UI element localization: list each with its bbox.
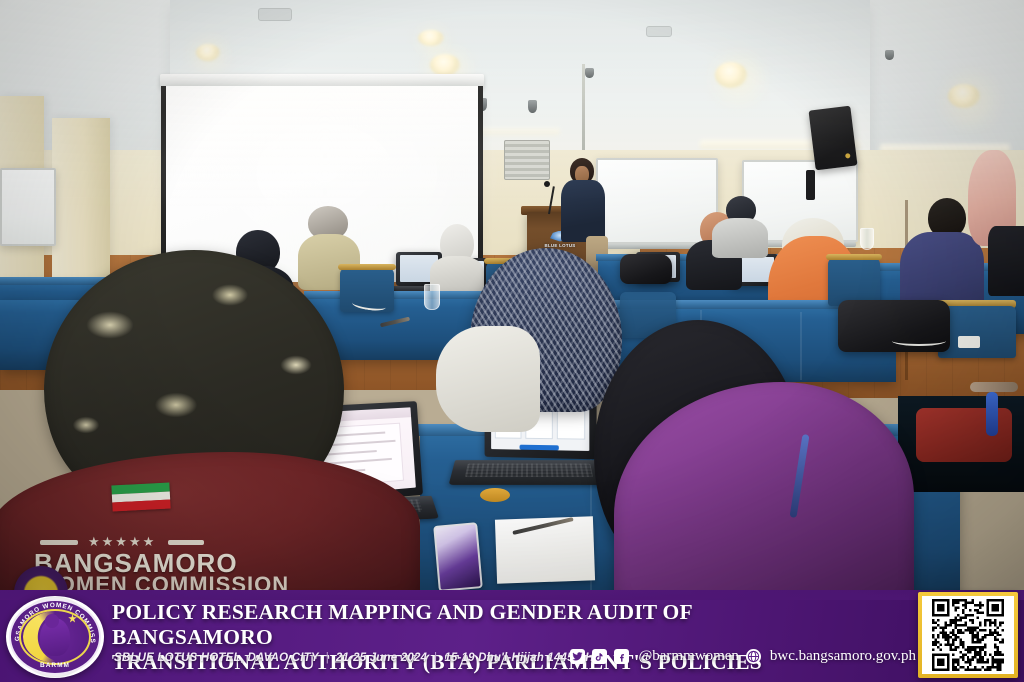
speaker-mount — [806, 170, 815, 200]
sprinkler-head — [585, 68, 594, 78]
globe-icon[interactable] — [746, 649, 761, 664]
wall-speaker — [809, 106, 858, 171]
website-url[interactable]: bwc.bangsamoro.gov.ph — [770, 648, 916, 665]
cable — [892, 336, 946, 346]
air-conditioner-vent — [504, 140, 550, 180]
laptop-charger — [958, 336, 980, 348]
microphone-head — [544, 181, 550, 187]
twitter-icon[interactable] — [570, 649, 585, 664]
banner-subtitle: SBLUE LOTUS HOTEL, DAVAO CITY | 21-25 Ju… — [114, 652, 594, 664]
bwc-seal-logo: BANGSAMORO WOMEN COMMISSION BARMM — [6, 596, 104, 678]
remote-control — [970, 382, 1018, 392]
tiktok-icon[interactable] — [592, 649, 607, 664]
downlight — [418, 30, 444, 46]
screenshot-root: BLUE LOTUS — [0, 0, 1024, 682]
laptop-sticker — [480, 488, 510, 502]
participant-torso — [712, 218, 768, 258]
philippine-flag-patch — [111, 483, 170, 512]
participant-torso — [988, 226, 1024, 296]
banner-venue: SBLUE LOTUS HOTEL, DAVAO CITY — [114, 652, 319, 664]
participant-foreground-white-garment — [436, 326, 540, 432]
banner-separator-1: | — [326, 652, 329, 664]
jacket-rule-right — [168, 540, 204, 545]
seal-barmm-label: BARMM — [6, 662, 104, 669]
bag-backrow — [620, 254, 672, 284]
social-handle[interactable]: @barmmwomen — [638, 648, 738, 665]
ceiling-vent — [258, 8, 292, 21]
laptop-foreground-center-base — [449, 460, 612, 485]
sprinkler-head — [528, 100, 537, 113]
event-photograph: BLUE LOTUS — [0, 0, 1024, 600]
facebook-icon[interactable] — [614, 649, 629, 664]
qr-code[interactable] — [918, 592, 1018, 678]
downlight — [196, 44, 220, 61]
banner-separator-2: | — [434, 652, 437, 664]
ceiling-vent — [646, 26, 672, 37]
banner-title-line1: POLICY RESEARCH MAPPING AND GENDER AUDIT… — [112, 600, 692, 649]
phone-screen — [435, 524, 480, 589]
smartphone — [433, 522, 483, 592]
table-skirt-fold — [800, 312, 802, 380]
qr-code-inner — [922, 596, 1014, 674]
chair-midrow-4 — [828, 258, 880, 306]
seal-mother-child-figure — [40, 618, 70, 656]
sprinkler-head — [885, 50, 894, 60]
chair-gold-trim — [338, 264, 396, 270]
whiteboard-left — [0, 168, 56, 246]
presenter-torso — [561, 180, 605, 242]
downlight — [948, 84, 980, 108]
chair-gold-trim — [826, 254, 882, 260]
jacket-rule-left — [40, 540, 78, 545]
keyboard — [465, 464, 593, 477]
podium-logo-text: BLUE LOTUS — [544, 243, 575, 248]
blue-object — [986, 392, 998, 436]
drinking-glass — [860, 228, 874, 250]
drinking-glass — [424, 284, 440, 310]
qr-code-matrix — [925, 599, 1011, 671]
downlight — [715, 62, 747, 88]
banner-dates-gregorian: 21-25 June 2024 — [336, 652, 427, 664]
banner-gradient-blend — [0, 590, 1024, 600]
banner-social-row: @barmmwomen bwc.bangsamoro.gov.ph — [570, 648, 916, 665]
